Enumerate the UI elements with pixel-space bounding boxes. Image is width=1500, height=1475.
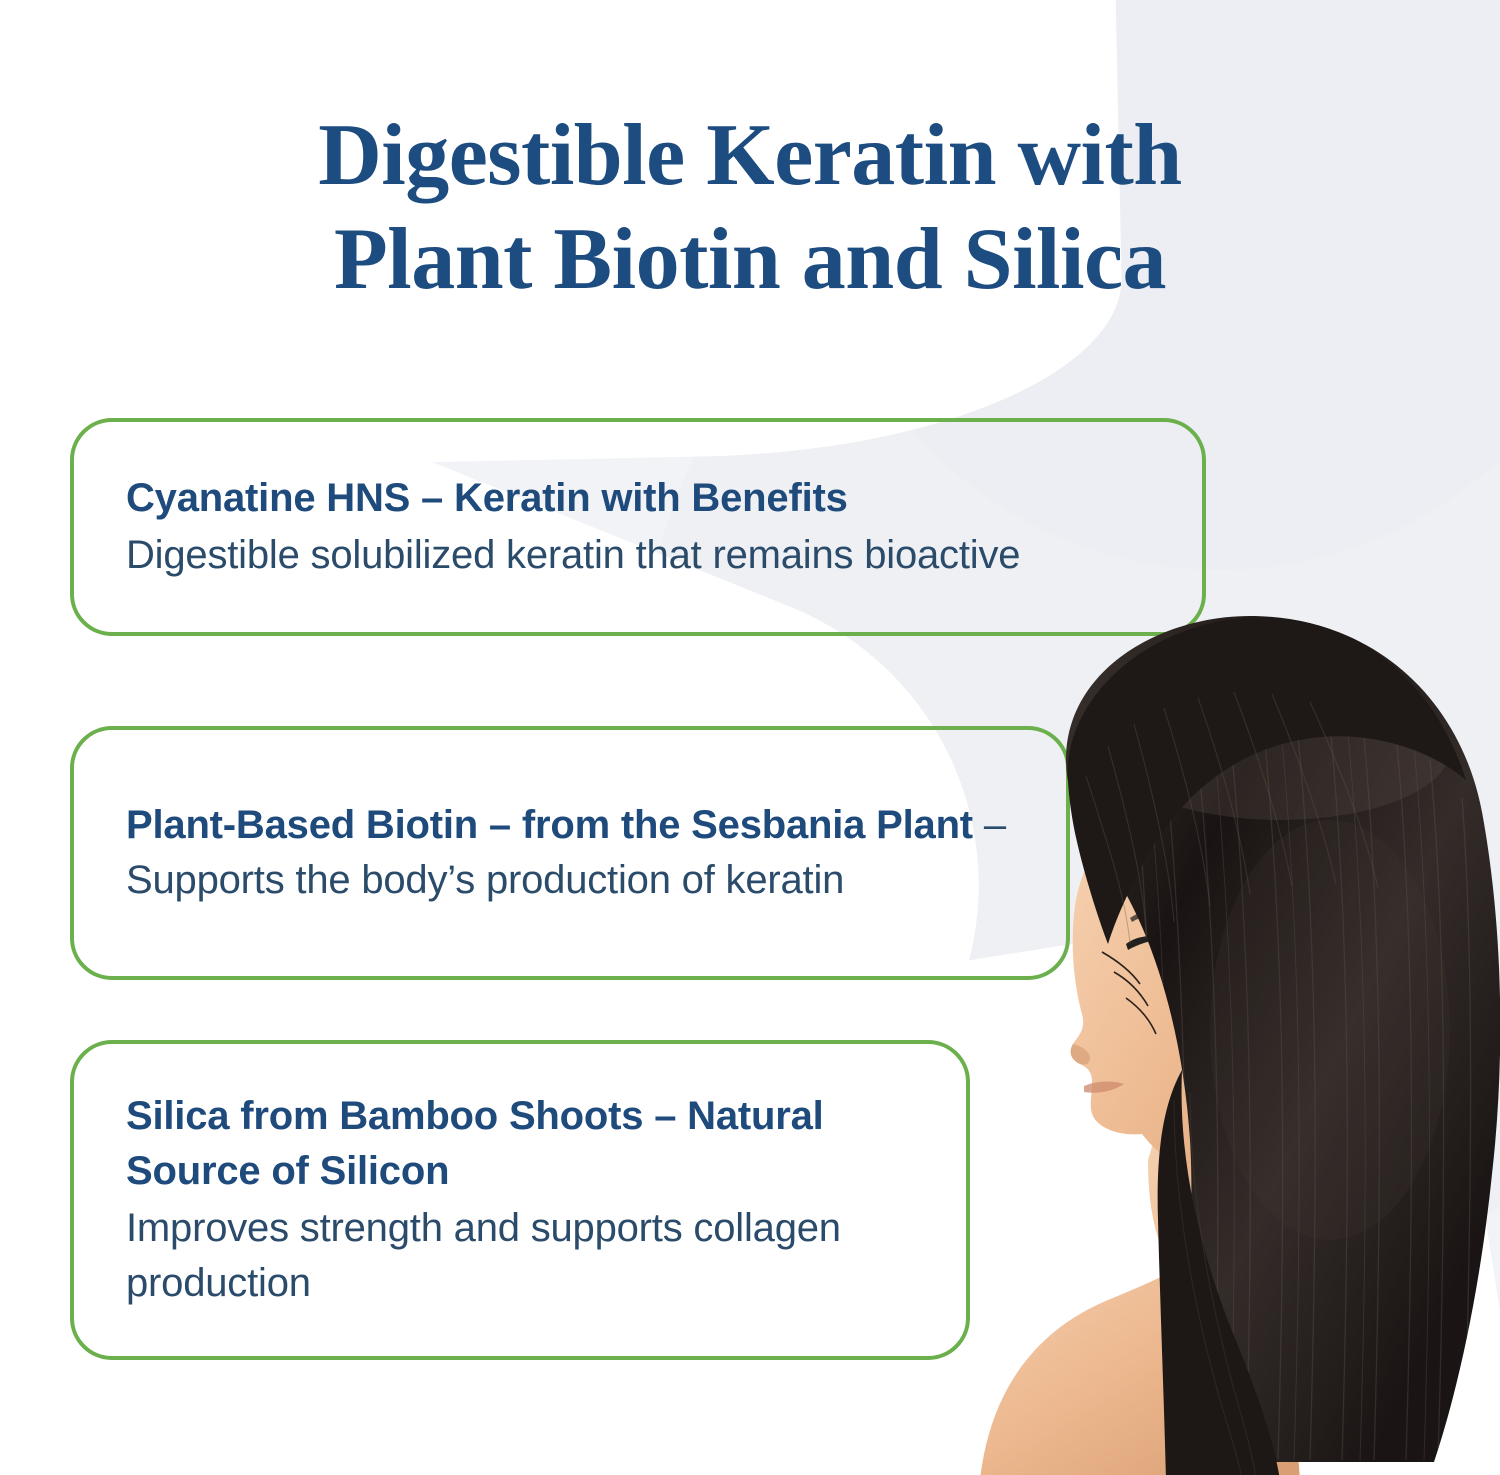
- benefit-card-cyanatine-hns: Cyanatine HNS – Keratin with BenefitsDig…: [70, 418, 1206, 636]
- page-title-line-1: Digestible Keratin with: [318, 107, 1182, 204]
- benefit-card-text: Cyanatine HNS – Keratin with BenefitsDig…: [126, 471, 1168, 583]
- face-profile: [1071, 814, 1290, 1180]
- eyebrow-icon: [1130, 908, 1182, 922]
- hair-bangs: [1068, 617, 1466, 944]
- background-white-footer: [0, 1362, 1500, 1475]
- infographic-canvas: Digestible Keratin with Plant Biotin and…: [0, 0, 1500, 1475]
- benefit-card-body: Digestible solubilized keratin that rema…: [126, 533, 1020, 577]
- eyelash-icon: [1126, 936, 1166, 950]
- benefit-card-bamboo-silica: Silica from Bamboo Shoots – Natural Sour…: [70, 1040, 970, 1360]
- benefit-card-plant-based-biotin: Plant-Based Biotin – from the Sesbania P…: [70, 726, 1070, 980]
- hair-mid-shine: [1210, 820, 1450, 1240]
- page-title-line-2: Plant Biotin and Silica: [0, 208, 1500, 312]
- benefit-card-content: Cyanatine HNS – Keratin with BenefitsDig…: [74, 471, 1202, 583]
- benefit-card-body: Improves strength and supports collagen …: [126, 1206, 841, 1305]
- neck-shape: [1148, 1120, 1300, 1346]
- benefit-card-text: Plant-Based Biotin – from the Sesbania P…: [126, 798, 1032, 908]
- nose-shadow: [1071, 1044, 1090, 1065]
- bangs-strands: [1086, 692, 1378, 944]
- hair-shine: [1130, 643, 1446, 810]
- benefit-card-heading: Silica from Bamboo Shoots – Natural Sour…: [126, 1089, 932, 1199]
- neck-shadow: [1160, 1138, 1290, 1310]
- benefit-card-content: Silica from Bamboo Shoots – Natural Sour…: [74, 1089, 966, 1312]
- benefit-card-heading: Plant-Based Biotin – from the Sesbania P…: [126, 803, 973, 847]
- benefit-card-text: Silica from Bamboo Shoots – Natural Sour…: [126, 1089, 932, 1312]
- benefit-card-heading: Cyanatine HNS – Keratin with Benefits: [126, 471, 1168, 526]
- hair-wisps: [1102, 952, 1156, 1034]
- page-title: Digestible Keratin with Plant Biotin and…: [0, 104, 1500, 312]
- shoulder-shape: [980, 1228, 1300, 1475]
- lips-shape: [1084, 1082, 1124, 1093]
- hair-crown-shine: [1110, 680, 1450, 820]
- hair-front-lock: [1158, 1070, 1280, 1475]
- benefit-card-content: Plant-Based Biotin – from the Sesbania P…: [74, 798, 1066, 908]
